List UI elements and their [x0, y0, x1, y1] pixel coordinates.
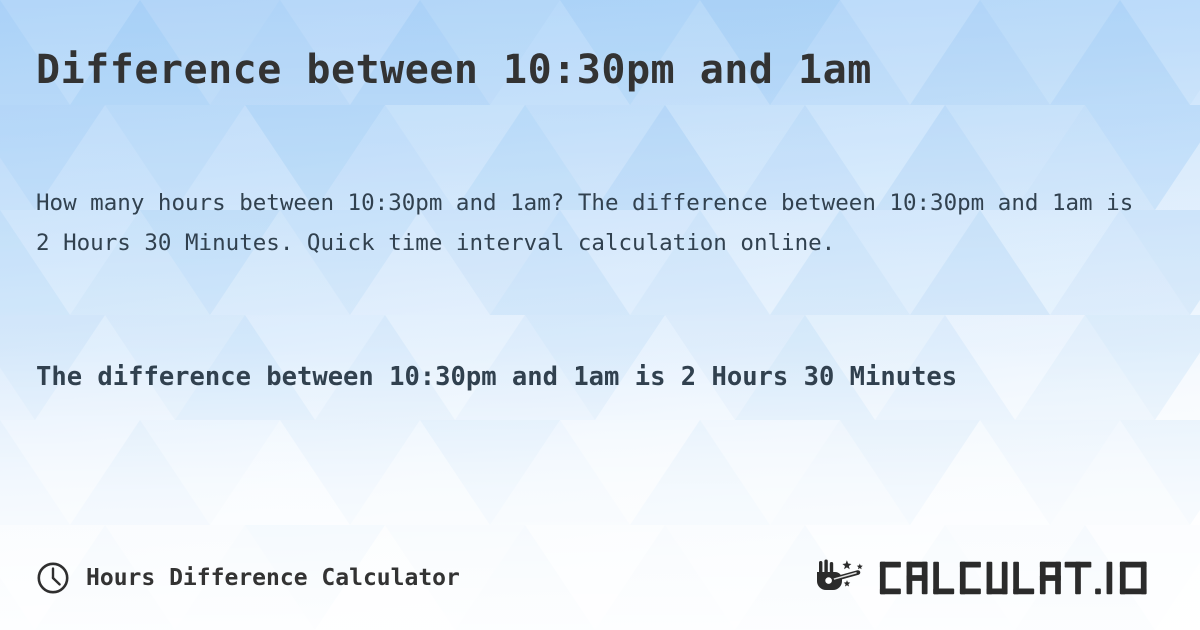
brand-logo[interactable]	[813, 558, 1164, 598]
clock-icon	[36, 561, 70, 595]
magic-wand-hand-icon	[813, 558, 869, 598]
footer-bar: Hours Difference Calculator	[0, 550, 1200, 606]
footer-calculator-label: Hours Difference Calculator	[86, 565, 460, 591]
brand-wordmark	[878, 558, 1164, 598]
content-area: Difference between 10:30pm and 1am How m…	[0, 0, 1200, 630]
page-title: Difference between 10:30pm and 1am	[36, 46, 872, 94]
answer-heading: The difference between 10:30pm and 1am i…	[36, 355, 1116, 399]
intro-paragraph: How many hours between 10:30pm and 1am? …	[36, 183, 1146, 263]
poster-canvas: Difference between 10:30pm and 1am How m…	[0, 0, 1200, 630]
footer-calculator-link[interactable]: Hours Difference Calculator	[36, 561, 460, 595]
